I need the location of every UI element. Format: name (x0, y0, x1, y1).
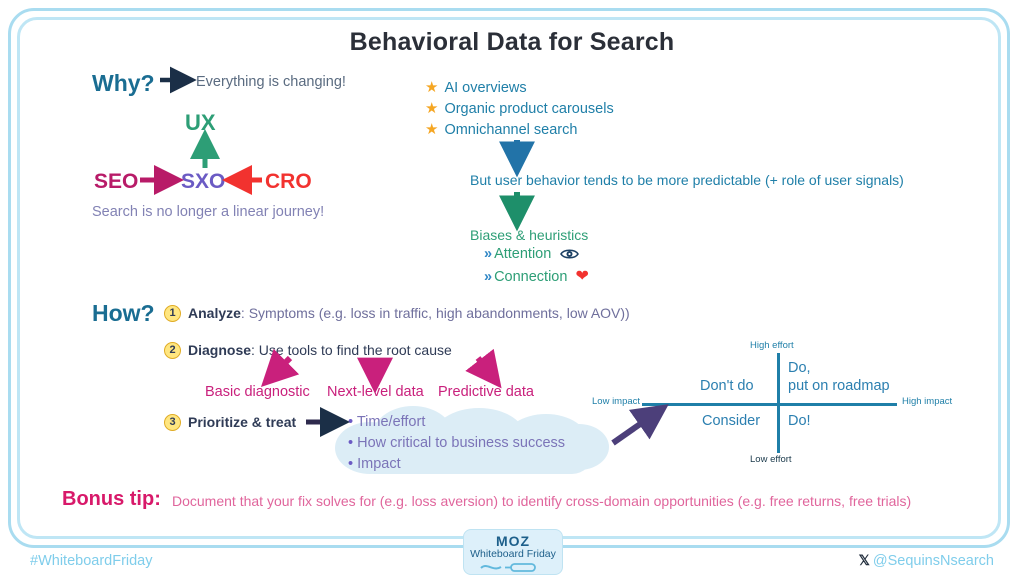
quadrant-cell-consider: Consider (702, 413, 760, 429)
step-2-text: Diagnose: Use tools to find the root cau… (188, 342, 452, 358)
trend-item-1: ★Organic product carousels (425, 99, 614, 117)
biases-heading: Biases & heuristics (470, 227, 588, 243)
moz-whiteboard-friday-badge: MOZ Whiteboard Friday (463, 529, 563, 575)
why-heading: Why? (92, 70, 155, 97)
cloud-bullet-0: • Time/effort (348, 414, 425, 430)
star-icon: ★ (425, 100, 438, 117)
quadrant-label-low-impact: Low impact (592, 396, 640, 407)
step-3-text: Prioritize & treat (188, 414, 296, 430)
star-icon: ★ (425, 79, 438, 96)
quadrant-cell-do-roadmap-line1: Do, (788, 360, 811, 376)
why-note: Search is no longer a linear journey! (92, 204, 324, 220)
ux-label: UX (185, 110, 216, 136)
quadrant-axis-horizontal (642, 403, 897, 406)
trend-item-0: ★AI overviews (425, 78, 527, 96)
quadrant-axis-vertical (777, 353, 780, 453)
cloud-bullet-2: • Impact (348, 456, 401, 472)
cloud-bullet-1: • How critical to business success (348, 435, 565, 451)
moz-logo-text: MOZ (464, 533, 562, 549)
why-tagline: Everything is changing! (196, 74, 346, 90)
quadrant-label-low-effort: Low effort (750, 454, 792, 465)
x-logo-icon: 𝕏 (859, 552, 870, 568)
footer-hashtag: #WhiteboardFriday (30, 553, 153, 569)
chevron-right-icon: » (484, 246, 490, 262)
seo-label: SEO (94, 170, 138, 194)
marker-doodle-icon (477, 561, 549, 573)
eye-icon (560, 246, 579, 262)
diagnose-type-1: Next-level data (327, 384, 424, 400)
bias-item-attention: »Attention (484, 246, 579, 262)
page-title: Behavioral Data for Search (0, 28, 1024, 57)
predictable-statement: But user behavior tends to be more predi… (470, 172, 904, 188)
moz-logo-subtitle: Whiteboard Friday (464, 548, 562, 560)
heart-icon: ❤ (575, 268, 588, 285)
diagnose-type-0: Basic diagnostic (205, 384, 310, 400)
quadrant-label-high-impact: High impact (902, 396, 952, 407)
trend-item-2: ★Omnichannel search (425, 120, 577, 138)
quadrant-label-high-effort: High effort (750, 340, 794, 351)
footer-handle: 𝕏@SequinsNsearch (859, 552, 994, 569)
chevron-right-icon: » (484, 269, 490, 285)
step-1-text: Analyze: Symptoms (e.g. loss in traffic,… (188, 305, 630, 321)
impact-effort-quadrant: High effort Low effort Low impact High i… (592, 338, 942, 468)
cro-label: CRO (265, 170, 312, 194)
bonus-tip-text: Document that your fix solves for (e.g. … (172, 493, 911, 509)
diagnose-type-2: Predictive data (438, 384, 534, 400)
star-icon: ★ (425, 121, 438, 138)
sxo-label: SXO (181, 170, 225, 194)
quadrant-cell-dont-do: Don't do (700, 378, 754, 394)
step-number-2: 2 (164, 342, 181, 359)
step-number-3: 3 (164, 414, 181, 431)
how-heading: How? (92, 300, 155, 327)
quadrant-cell-do-roadmap-line2: put on roadmap (788, 378, 890, 394)
step-number-1: 1 (164, 305, 181, 322)
bias-item-connection: »Connection ❤ (484, 266, 589, 286)
quadrant-cell-do: Do! (788, 413, 811, 429)
bonus-tip-label: Bonus tip: (62, 488, 161, 511)
whiteboard: Behavioral Data for Search Why? Everythi… (0, 0, 1024, 576)
